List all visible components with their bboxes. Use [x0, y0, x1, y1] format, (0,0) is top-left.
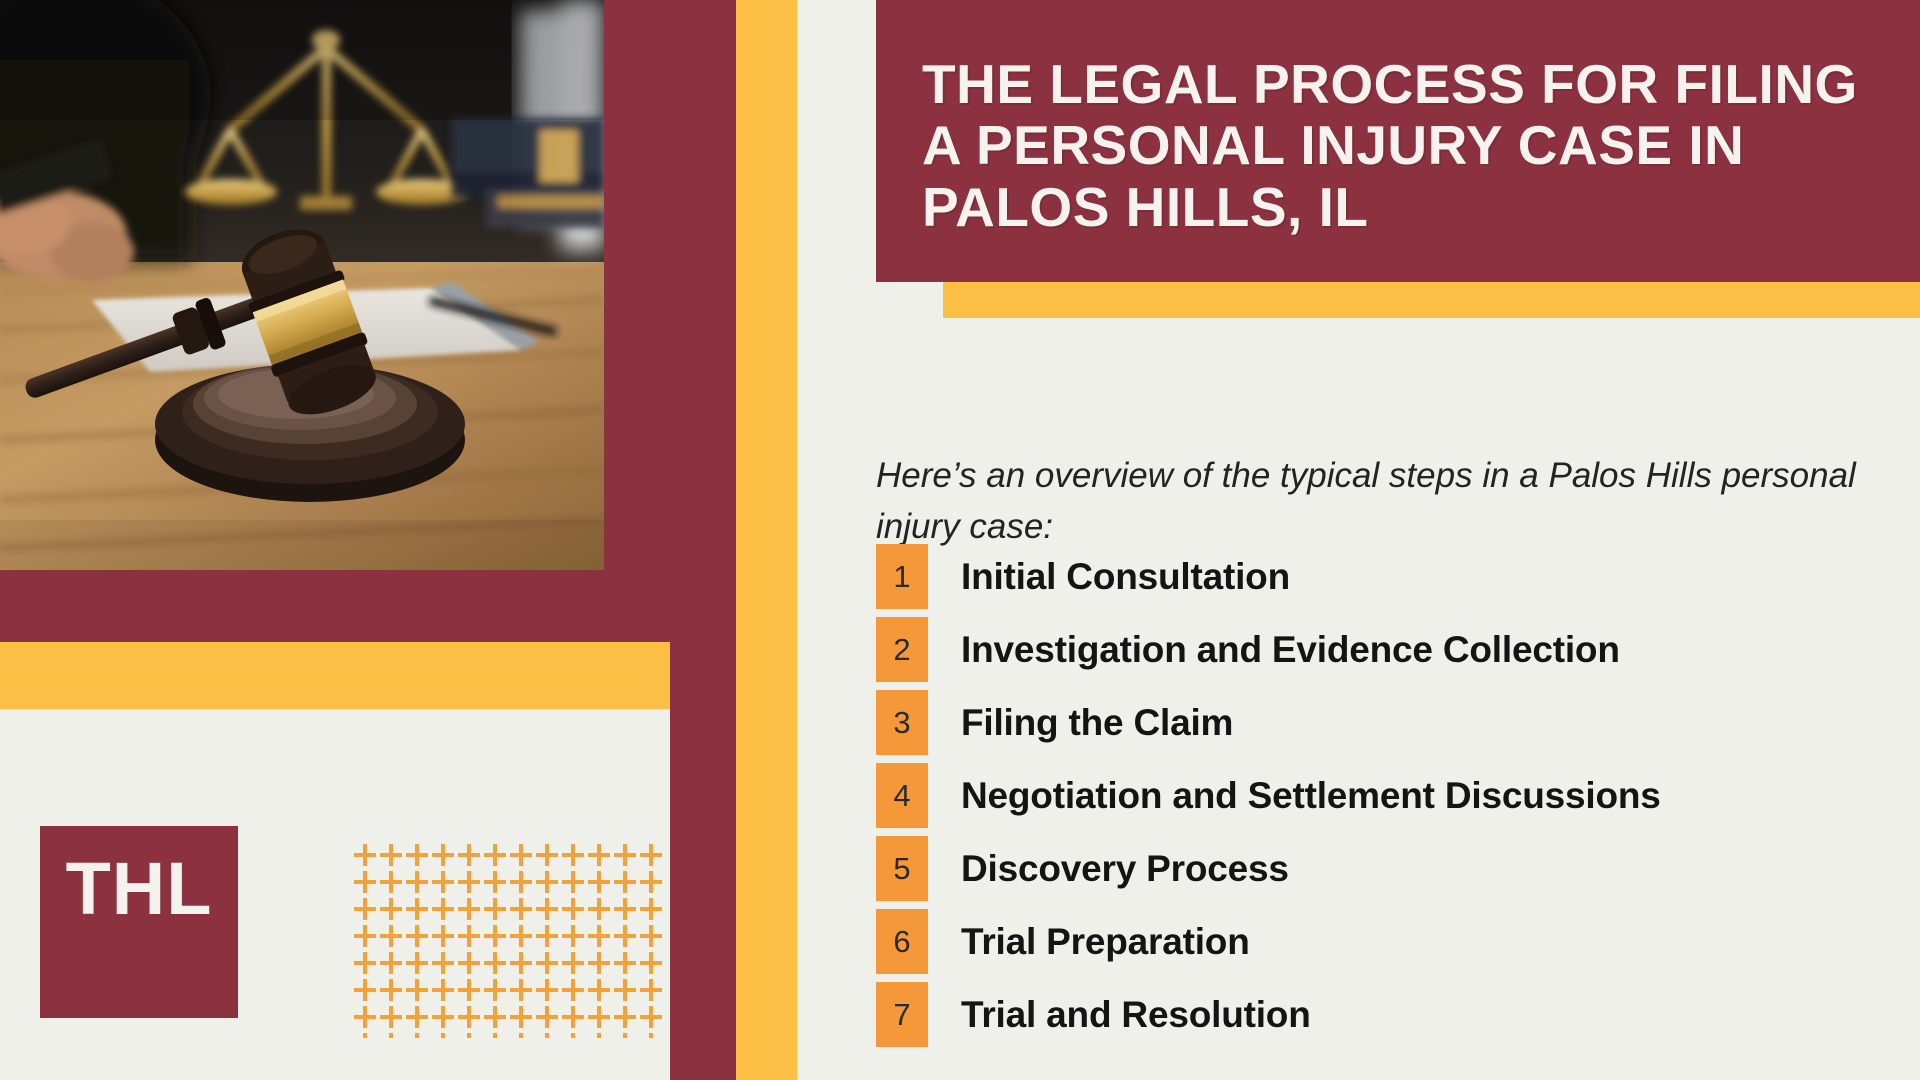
step-label: Initial Consultation [961, 556, 1290, 598]
step-number-badge: 1 [876, 544, 928, 609]
step-label: Discovery Process [961, 848, 1289, 890]
thl-logo: THL [40, 826, 238, 1018]
page-title: THE LEGAL PROCESS FOR FILING A PERSONAL … [922, 54, 1874, 239]
steps-list: 1 Initial Consultation 2 Investigation a… [876, 540, 1896, 1051]
hero-photo [0, 0, 604, 570]
step-number-badge: 3 [876, 690, 928, 755]
step-label: Investigation and Evidence Collection [961, 629, 1620, 671]
title-yellow-accent-bar [943, 282, 1920, 318]
step-label: Negotiation and Settlement Discussions [961, 775, 1661, 817]
step-row: 7 Trial and Resolution [876, 978, 1896, 1051]
step-number-badge: 2 [876, 617, 928, 682]
step-row: 5 Discovery Process [876, 832, 1896, 905]
step-row: 4 Negotiation and Settlement Discussions [876, 759, 1896, 832]
step-row: 2 Investigation and Evidence Collection [876, 613, 1896, 686]
orange-plus-pattern [352, 842, 662, 1038]
vertical-yellow-stripe [736, 0, 797, 1080]
thl-logo-text: THL [66, 852, 213, 926]
vertical-maroon-stripe [670, 0, 736, 1080]
intro-paragraph: Here’s an overview of the typical steps … [876, 451, 1876, 553]
step-row: 6 Trial Preparation [876, 905, 1896, 978]
photo-yellow-band [0, 642, 670, 709]
step-row: 1 Initial Consultation [876, 540, 1896, 613]
step-number-badge: 4 [876, 763, 928, 828]
step-label: Trial and Resolution [961, 994, 1311, 1036]
step-label: Filing the Claim [961, 702, 1233, 744]
left-column: THL [0, 0, 670, 1080]
step-number-badge: 6 [876, 909, 928, 974]
step-number-badge: 7 [876, 982, 928, 1047]
step-label: Trial Preparation [961, 921, 1250, 963]
step-row: 3 Filing the Claim [876, 686, 1896, 759]
step-number-badge: 5 [876, 836, 928, 901]
title-block: THE LEGAL PROCESS FOR FILING A PERSONAL … [876, 0, 1920, 282]
